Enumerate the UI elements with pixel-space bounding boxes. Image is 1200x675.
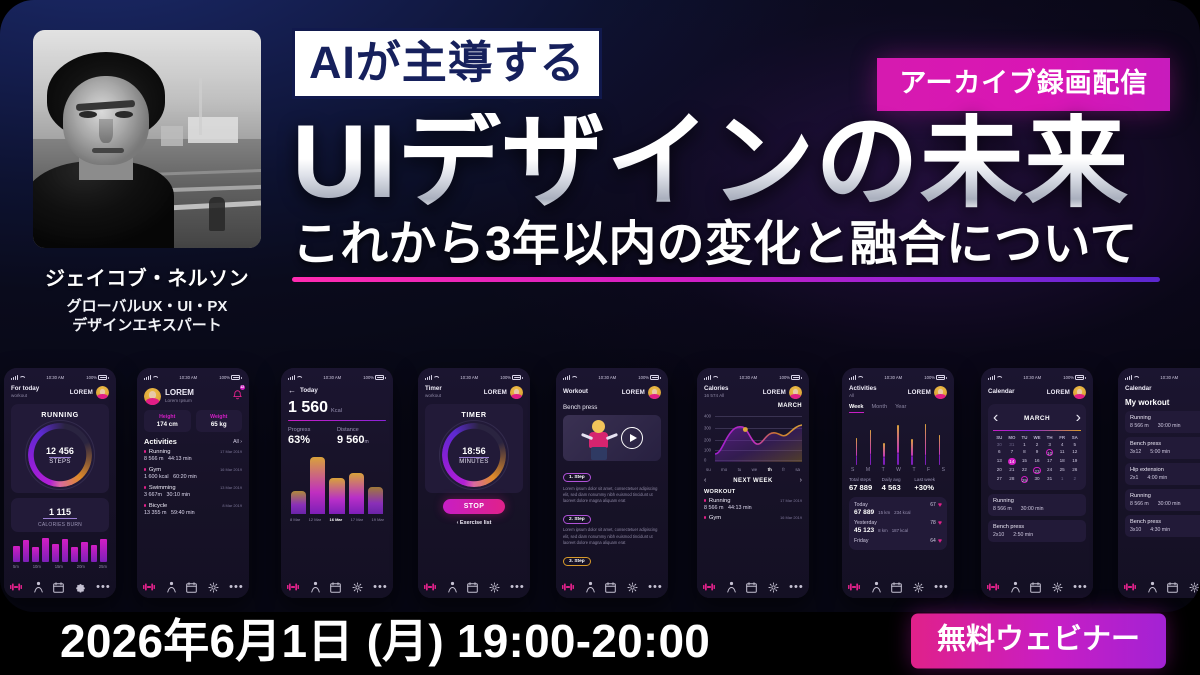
status-bar: 10:30 AM 100% [704, 373, 802, 382]
user-label: LOREM [763, 389, 786, 396]
wifi-icon [996, 375, 1001, 380]
heart-icon: ♥ [938, 520, 942, 527]
play-icon[interactable] [621, 427, 643, 449]
next-week-icon[interactable]: › [800, 477, 802, 484]
exercise-name: Bench press [563, 404, 661, 411]
status-battery: 100% [86, 375, 97, 380]
divider [288, 420, 386, 421]
user-label: LOREM [70, 389, 93, 396]
user-label: LOREM [622, 389, 645, 396]
free-webinar-button[interactable]: 無料ウェビナー [911, 614, 1166, 669]
tab-bar[interactable]: ••• [418, 576, 530, 598]
tab-bar[interactable]: ••• [981, 576, 1093, 598]
calendar-icon[interactable] [467, 582, 478, 593]
calories-value: 1 115 [43, 507, 77, 519]
poster-stage: ジェイコブ・ネルソン グローバルUX・UI・PX デザインエキスパート AIが主… [0, 0, 1200, 675]
ring-label: MINUTES [459, 457, 489, 465]
phone-title: Workout [563, 389, 588, 396]
gear-icon[interactable] [75, 582, 86, 593]
title-block: AIが主導する アーカイブ録画配信 UIデザインの未来 これから3年以内の変化と… [292, 28, 1170, 282]
step-pill[interactable]: 1. Step [563, 473, 591, 482]
gear-icon[interactable] [1052, 582, 1063, 593]
dumbbell-icon[interactable] [847, 582, 861, 592]
status-bar: 10:30 AM 100% [288, 373, 386, 382]
workout-card[interactable]: Running8 566 m30:00 min [1125, 489, 1200, 511]
workout-card[interactable]: Hip extension2x14:00 min [1125, 463, 1200, 485]
avatar[interactable] [144, 388, 161, 405]
hero-card: ジェイコブ・ネルソン グローバルUX・UI・PX デザインエキスパート AIが主… [0, 0, 1200, 612]
day-selected: 14 [1008, 458, 1016, 466]
dumbbell-icon[interactable] [286, 582, 300, 592]
steps-x-axis: SM TW TF S [849, 465, 947, 473]
phone-title: ActivitiesAll [849, 386, 877, 398]
prev-month-icon[interactable]: ‹ [993, 409, 998, 427]
gear-icon[interactable] [489, 582, 500, 593]
phone-title: Calories16 574 All [704, 386, 728, 398]
calendar-week: 6789101112 [993, 449, 1081, 457]
heart-icon: ♥ [938, 502, 942, 509]
calendar-icon[interactable] [330, 582, 341, 593]
dumbbell-icon[interactable] [702, 582, 716, 592]
ring-value: 18:56 [462, 446, 485, 456]
wifi-icon [296, 375, 301, 380]
tab-bar[interactable]: ••• [556, 576, 668, 598]
step-text: Lorem ipsum dolor sit amet, consectetuer… [563, 527, 661, 545]
stat-total-steps: Total steps67 889 [849, 477, 882, 492]
gear-icon[interactable] [208, 582, 219, 593]
all-link[interactable]: All › [233, 439, 242, 445]
workout-card[interactable]: Bench press3x104:30 min [1125, 515, 1200, 537]
table-row: Friday 64♥ [854, 538, 942, 545]
person-icon[interactable] [34, 581, 43, 593]
kcal-value: 1 560 [288, 399, 328, 417]
tab-bar[interactable]: ••• [4, 576, 116, 598]
bar-axis: 8 Mar 12 Mar 16 Mar 17 Mar 19 Mar [288, 514, 386, 522]
phone-title: Today [300, 388, 318, 395]
month-label: MARCH [704, 403, 802, 409]
speaker-role-line2: デザインエキスパート [72, 317, 222, 334]
exercise-video[interactable] [563, 415, 661, 461]
timer-ring: 18:56 MINUTES [442, 423, 506, 487]
footer-bar: 2026年6月1日 (月) 19:00-20:00 無料ウェビナー [0, 607, 1200, 675]
user-label: LOREM [1047, 389, 1070, 396]
kicker-label: AIが主導する [292, 28, 602, 99]
tab-year[interactable]: Year [895, 404, 906, 413]
avatar[interactable] [789, 386, 802, 399]
status-bar: 10:30 AM 100% [1125, 373, 1200, 382]
phone-mockup-2: 10:30 AM 100% LOREMLorem Ipsum 12 [137, 368, 249, 598]
tab-bar[interactable]: ••• [281, 576, 393, 598]
user-label: LOREM [908, 389, 931, 396]
next-month-icon[interactable]: › [1076, 409, 1081, 427]
list-item: Running17 Mar 2019 8 566 m 44:13 min [144, 449, 242, 462]
person-icon[interactable] [167, 581, 176, 593]
day-outlined: 29 [1021, 476, 1029, 484]
calendar-icon[interactable] [891, 582, 902, 593]
calendar-grid[interactable]: SUMO TUWE THFR SA 303112345 6789101112 1… [993, 435, 1081, 483]
calendar-icon[interactable] [53, 582, 64, 593]
steps-chart [849, 419, 947, 465]
activities-header: Activities All › [144, 437, 242, 446]
chart-x-axis: sumo tuwe th frsa [704, 464, 802, 472]
avatar[interactable] [648, 386, 661, 399]
daily-bar-chart [288, 452, 386, 514]
activity-list: Running17 Mar 2019 8 566 m 44:13 min Gym… [144, 449, 242, 516]
tab-bar[interactable]: ••• [697, 576, 809, 598]
wifi-icon [152, 375, 157, 380]
metric-height: Height174 cm [144, 410, 191, 432]
kcal-unit: Kcal [331, 408, 342, 414]
day-outlined: 10 [1046, 449, 1054, 457]
status-bar: 10:30 AM 100% [11, 373, 109, 382]
day-outlined: 23 [1033, 467, 1041, 475]
week-nav[interactable]: ‹ NEXT WEEK › [704, 477, 802, 484]
person-icon[interactable] [1148, 581, 1157, 593]
avatar[interactable] [934, 386, 947, 399]
speaker-block: ジェイコブ・ネルソン グローバルUX・UI・PX デザインエキスパート [33, 30, 261, 335]
phone-mockup-5: 10:30 AM 100% Workout LOREM Bench press [556, 368, 668, 598]
stat-daily-avg: Daily avg4 563 [882, 477, 915, 492]
ring-value: 12 456 [46, 446, 74, 456]
activity-list: Running17 Mar 2019 8 566 m 44:13 min Gym… [704, 498, 802, 521]
status-bar: 10:30 AM 100% [988, 373, 1086, 382]
status-bar: 10:30 AM 100% [144, 373, 242, 382]
back-arrow-icon[interactable]: ← [288, 387, 296, 395]
wifi-icon [1133, 375, 1138, 380]
phone-mockup-3: 10:30 AM 100% ← Today 1 560 Kcal Pro [281, 368, 393, 598]
speaker-name: ジェイコブ・ネルソン [33, 262, 261, 291]
next-week-label[interactable]: NEXT WEEK [733, 478, 772, 484]
calories-label: CALORIES BURN [17, 522, 103, 528]
metric-weight: Weight65 kg [196, 410, 243, 432]
calendar-icon[interactable] [605, 582, 616, 593]
bars-axis: 5m10m 15m20m 25m [11, 562, 109, 569]
stat-distance: Distance 9 560m [337, 427, 386, 446]
list-item: Gym16 Mar 2019 [704, 515, 802, 521]
steps-ring: 12 456 STEPS [28, 423, 92, 487]
section-title: My workout [1125, 398, 1200, 407]
wifi-icon [857, 375, 862, 380]
user-label: LOREM [484, 389, 507, 396]
period-tabs[interactable]: Week Month Year [849, 404, 947, 413]
wifi-icon [571, 375, 576, 380]
status-bar: 10:30 AM 100% [849, 373, 947, 382]
person-icon[interactable] [727, 581, 736, 593]
phone-mockup-7: 10:30 AM 100% ActivitiesAll LOREM Wee [842, 368, 954, 598]
status-bar: 10:30 AM 100% [425, 373, 523, 382]
workout-section: WORKOUT [704, 489, 802, 495]
wifi-icon [712, 375, 717, 380]
phone-title: Calendar [988, 389, 1014, 396]
page-subtitle: これから3年以内の変化と融合について [292, 221, 1170, 270]
list-item: Swimming13 Mar 2019 3 667m 30:10 min [144, 485, 242, 498]
calendar-icon[interactable] [186, 582, 197, 593]
phone-title: Calendar [1125, 386, 1151, 393]
user-name: LOREMLorem Ipsum [165, 389, 194, 403]
list-item: Bicycle8 Mar 2019 13 355 m 59:40 min [144, 503, 242, 516]
calendar-week: 20212223242526 [993, 467, 1081, 475]
title-underline [292, 277, 1160, 282]
calendar-week: 13141516171819 [993, 458, 1081, 466]
exercise-list-link[interactable]: ‹ Exercise list [425, 520, 523, 526]
calendar-icon[interactable] [746, 582, 757, 593]
wifi-icon [433, 375, 438, 380]
table-row: Yesterday 78♥ 45 1238 km187 kcal [854, 520, 942, 534]
phone-mockup-6: 10:30 AM 100% Calories16 574 All LOREM M… [697, 368, 809, 598]
phone-mockup-1: 10:30 AM 100% For todayworkout LOREM [4, 368, 116, 598]
bell-icon[interactable]: 12 [233, 387, 242, 405]
table-row: Today 67♥ 67 88915 km234 kcal [854, 502, 942, 516]
phone-mockups: 10:30 AM 100% For todayworkout LOREM [0, 368, 1200, 606]
gear-icon[interactable] [913, 582, 924, 593]
speaker-portrait [33, 30, 261, 248]
ring-label: STEPS [49, 457, 70, 465]
person-icon[interactable] [872, 581, 881, 593]
workout-card[interactable]: Bench press 2x102:50 min [988, 520, 1086, 542]
tab-bar[interactable]: ••• [842, 576, 954, 598]
avatar[interactable] [96, 386, 109, 399]
list-item: Running17 Mar 2019 8 566 m 44:13 min [704, 498, 802, 511]
stat-last-week: Last week+30% [914, 477, 947, 492]
step-pill[interactable]: 3. Step [563, 557, 591, 566]
gear-icon[interactable] [1189, 582, 1200, 593]
calendar-icon[interactable] [1167, 582, 1178, 593]
tab-week[interactable]: Week [849, 404, 864, 413]
card-title: RUNNING [17, 410, 103, 419]
event-datetime: 2026年6月1日 (月) 19:00-20:00 [60, 618, 710, 664]
wifi-icon [19, 375, 24, 380]
person-icon[interactable] [311, 581, 320, 593]
person-icon[interactable] [1011, 581, 1020, 593]
calories-area-chart: 400 300 200 100 0 [704, 412, 802, 464]
prev-week-icon[interactable]: ‹ [704, 477, 706, 484]
calendar-weekdays: SUMO TUWE THFR SA [993, 435, 1081, 440]
step-text: Lorem ipsum dolor sit amet, consectetuer… [563, 486, 661, 504]
tab-month[interactable]: Month [872, 404, 888, 413]
calendar-icon[interactable] [1030, 582, 1041, 593]
status-time: 10:30 AM [46, 375, 64, 380]
status-bar: 10:30 AM 100% [563, 373, 661, 382]
phone-title: For todayworkout [11, 386, 39, 398]
heart-icon: ♥ [938, 538, 942, 545]
tab-bar[interactable]: ••• [1118, 576, 1200, 598]
tab-bar[interactable]: ••• [137, 576, 249, 598]
page-title: UIデザインの未来 [292, 113, 1170, 213]
dumbbell-icon[interactable] [142, 582, 156, 592]
month-label: MARCH [1024, 415, 1050, 422]
dumbbell-icon[interactable] [423, 582, 437, 592]
timer-card: TIMER 18:56 MINUTES [425, 404, 523, 493]
calendar-week: 272829303112 [993, 476, 1081, 484]
calendar-nav[interactable]: ‹ MARCH › [993, 409, 1081, 427]
phone-title: Timerworkout [425, 386, 442, 398]
stat-progress: Progress 63% [288, 427, 337, 446]
workout-card[interactable]: Bench press3x125:00 min [1125, 437, 1200, 459]
activity-bars [11, 536, 109, 562]
day-history-card: Today 67♥ 67 88915 km234 kcal Yesterday … [849, 497, 947, 550]
list-item: Gym16 Mar 2019 1 600 kcal 60:20 min [144, 467, 242, 480]
person-icon[interactable] [448, 581, 457, 593]
speaker-role: グローバルUX・UI・PX デザインエキスパート [33, 297, 261, 335]
summary-stats: Total steps67 889 Daily avg4 563 Last we… [849, 477, 947, 492]
step-pill[interactable]: 2. Step [563, 515, 591, 524]
avatar[interactable] [1073, 386, 1086, 399]
calendar-week: 303112345 [993, 442, 1081, 447]
gear-icon[interactable] [627, 582, 638, 593]
avatar[interactable] [510, 386, 523, 399]
dumbbell-icon[interactable] [561, 582, 575, 592]
workout-card[interactable]: Running8 566 m30:00 min [1125, 411, 1200, 433]
phone-mockup-4: 10:30 AM 100% Timerworkout LOREM TIME [418, 368, 530, 598]
dumbbell-icon[interactable] [1123, 582, 1137, 592]
gear-icon[interactable] [352, 582, 363, 593]
workout-card[interactable]: Running 8 566 m30:00 min [988, 494, 1086, 516]
stop-button[interactable]: STOP [443, 499, 505, 514]
calendar-card: ‹ MARCH › SUMO TUWE THFR SA [988, 404, 1086, 490]
phone-mockup-9: 10:30 AM 100% Calendar LOREM My workout … [1118, 368, 1200, 598]
speaker-role-line1: グローバルUX・UI・PX [67, 298, 228, 315]
card-title: TIMER [431, 410, 517, 419]
person-icon[interactable] [586, 581, 595, 593]
calories-card: 1 115 CALORIES BURN [11, 498, 109, 532]
gear-icon[interactable] [768, 582, 779, 593]
running-card: RUNNING 12 456 STEPS [11, 404, 109, 493]
dumbbell-icon[interactable] [9, 582, 23, 592]
dumbbell-icon[interactable] [986, 582, 1000, 592]
phone-mockup-8: 10:30 AM 100% Calendar LOREM ‹ MARCH [981, 368, 1093, 598]
body-metrics: Height174 cm Weight65 kg [144, 410, 242, 432]
